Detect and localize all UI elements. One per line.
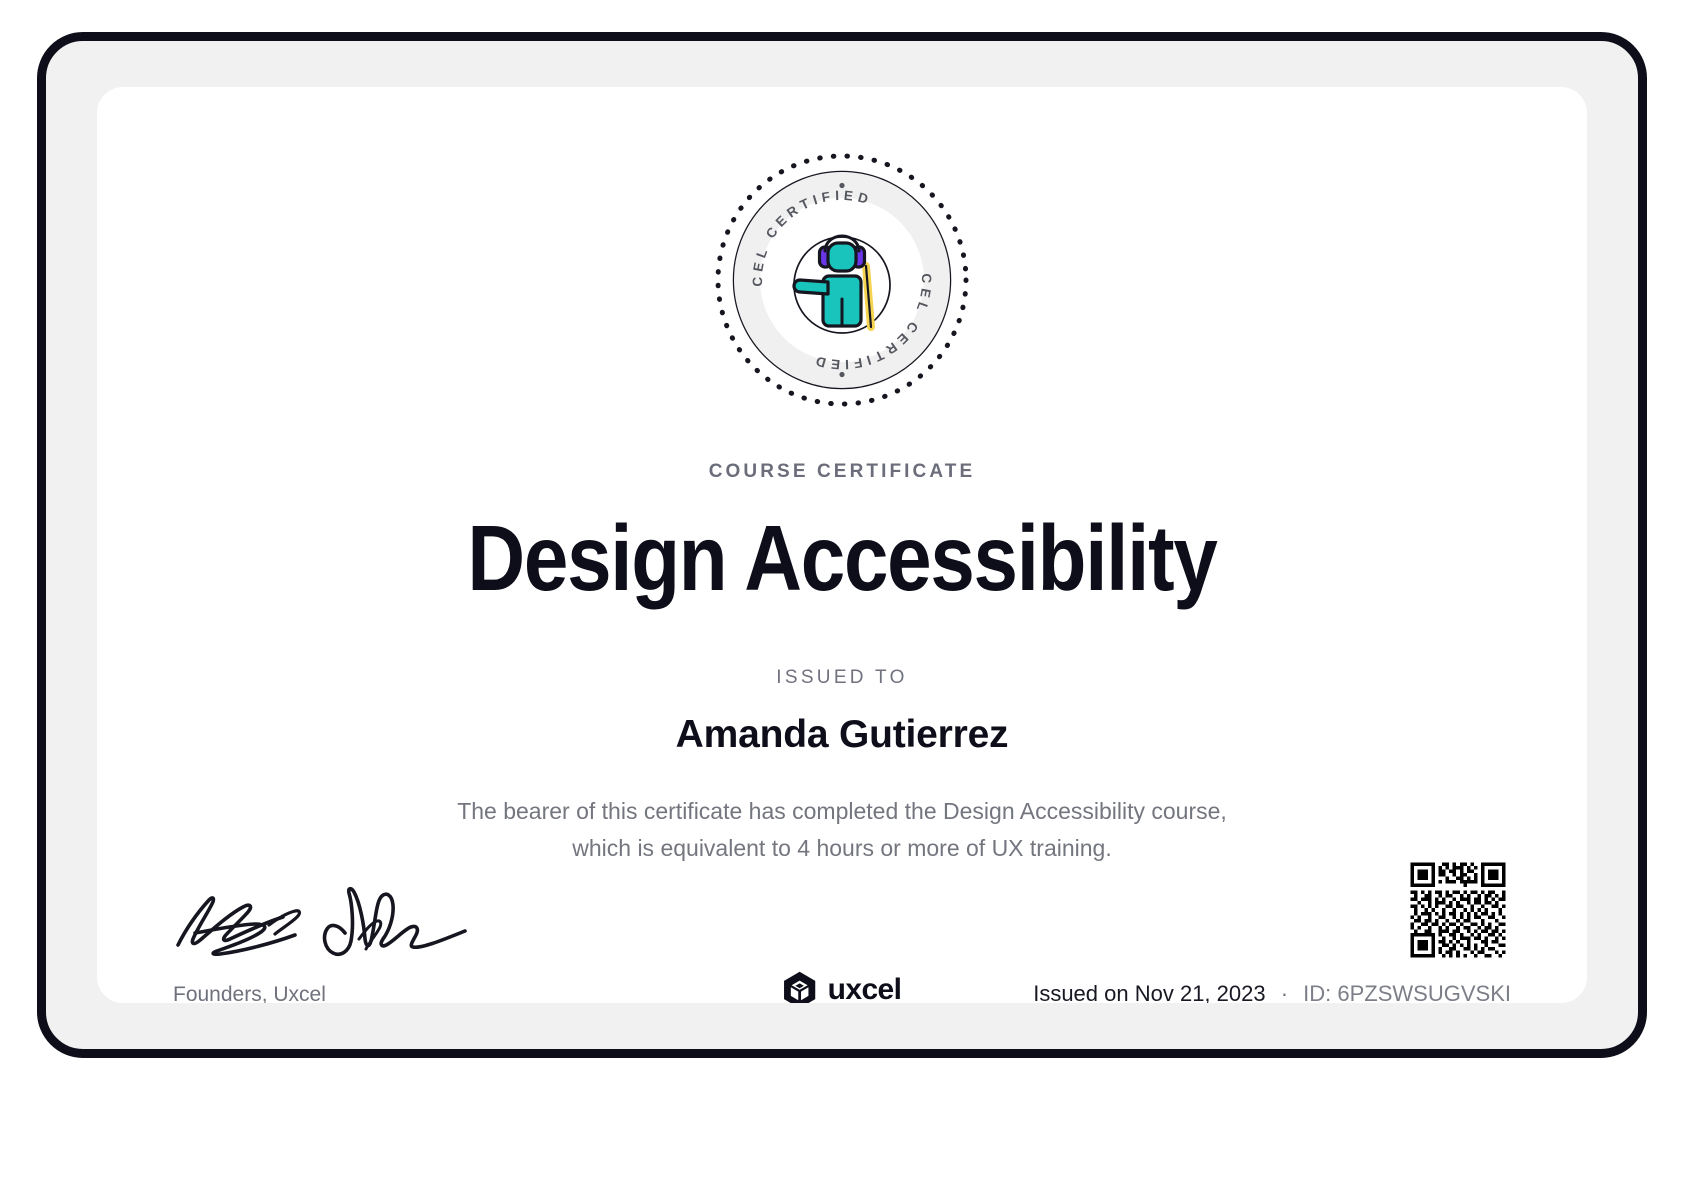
uxcel-wordmark: uxcel [828, 975, 902, 1003]
certification-badge: UXCEL CERTIFIED UXCEL CERTIFIED [97, 149, 1587, 411]
course-certificate-label: COURSE CERTIFICATE [97, 461, 1587, 483]
recipient-name: Amanda Gutierrez [97, 713, 1587, 757]
founders-label: Founders, Uxcel [173, 983, 326, 1003]
certificate-description: The bearer of this certificate has compl… [412, 793, 1272, 868]
description-line-1: The bearer of this certificate has compl… [412, 793, 1272, 830]
verification-qr-code[interactable] [1407, 859, 1509, 961]
issue-details: Issued on Nov 21, 2023 · ID: 6PZSWSUGVSK… [1033, 981, 1511, 1003]
course-title: Design Accessibility [201, 509, 1482, 608]
founder-signatures [173, 867, 473, 957]
signature-icon [173, 867, 473, 957]
certificate-id: ID: 6PZSWSUGVSKI [1303, 981, 1511, 1003]
qr-code-icon[interactable] [1407, 859, 1509, 961]
description-line-2: which is equivalent to 4 hours or more o… [412, 830, 1272, 867]
issued-on-date: Issued on Nov 21, 2023 [1033, 981, 1265, 1003]
certificate-frame: UXCEL CERTIFIED UXCEL CERTIFIED [37, 32, 1647, 1058]
uxcel-hexagon-cube-icon [783, 971, 817, 1003]
uxcel-logo: uxcel [783, 971, 902, 1003]
certificate-card: UXCEL CERTIFIED UXCEL CERTIFIED [97, 87, 1587, 1003]
issued-to-label: ISSUED TO [97, 667, 1587, 689]
badge-seal-icon: UXCEL CERTIFIED UXCEL CERTIFIED [711, 149, 973, 411]
issue-separator: · [1272, 981, 1297, 1003]
